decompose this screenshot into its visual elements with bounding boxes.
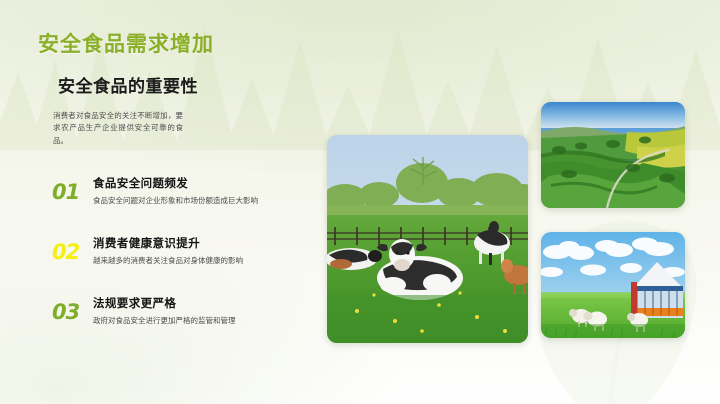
list-item: 03 法规要求更严格 政府对食品安全进行更加严格的监管和管理: [46, 298, 296, 348]
list-item: 02 消费者健康意识提升 越来越多的消费者关注食品对身体健康的影响: [46, 238, 296, 288]
photo-sheep-grassland-yurt: [541, 232, 685, 338]
point-number-01: 01: [52, 180, 79, 204]
point-heading-02: 消费者健康意识提升: [93, 238, 296, 252]
slide-title: 安全食品需求增加: [38, 28, 214, 58]
point-number-02: 02: [52, 240, 79, 264]
point-heading-01: 食品安全问题频发: [93, 178, 296, 192]
key-points-list: 01 食品安全问题频发 食品安全问题对企业形象和市场份额造成巨大影响 02 消费…: [46, 178, 296, 358]
photo-cows-in-pasture: [327, 135, 528, 343]
list-item: 01 食品安全问题频发 食品安全问题对企业形象和市场份额造成巨大影响: [46, 178, 296, 228]
section-title: 安全食品的重要性: [58, 72, 198, 97]
point-number-03: 03: [52, 300, 79, 324]
slide-root: 安全食品需求增加 安全食品的重要性 消费者对食品安全的关注不断增加，要求农产品生…: [0, 0, 720, 404]
point-heading-03: 法规要求更严格: [93, 298, 296, 312]
intro-paragraph: 消费者对食品安全的关注不断增加，要求农产品生产企业提供安全可靠的食品。: [53, 110, 183, 147]
point-desc-01: 食品安全问题对企业形象和市场份额造成巨大影响: [93, 195, 278, 207]
photo-aerial-farmland: [541, 102, 685, 208]
point-desc-03: 政府对食品安全进行更加严格的监管和管理: [93, 315, 278, 327]
point-desc-02: 越来越多的消费者关注食品对身体健康的影响: [93, 255, 278, 267]
